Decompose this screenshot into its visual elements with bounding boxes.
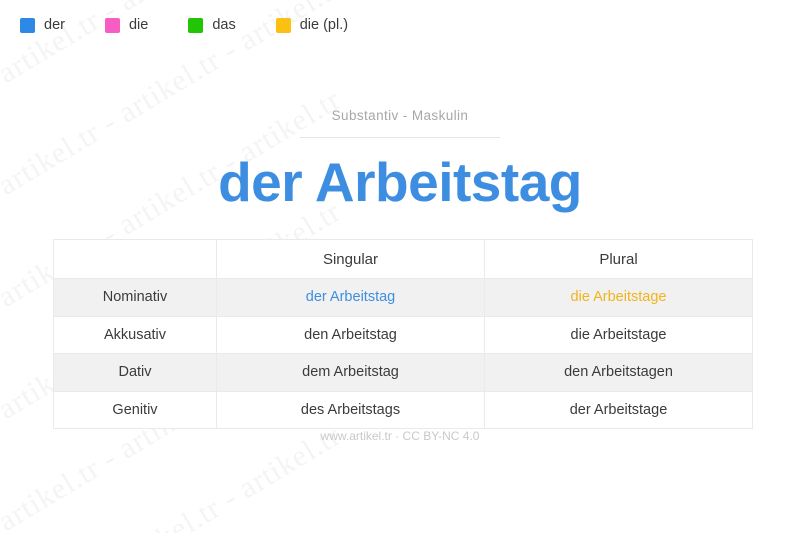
word-category-subtitle: Substantiv - Maskulin [0, 108, 800, 123]
case-label-akkusativ: Akkusativ [54, 316, 217, 354]
cell-nominativ-singular: der Arbeitstag [217, 279, 485, 317]
table-row: Genitiv des Arbeitstags der Arbeitstage [54, 391, 753, 429]
legend-label-die: die [129, 17, 148, 33]
column-header-singular: Singular [217, 240, 485, 279]
header-divider [300, 137, 500, 138]
cell-genitiv-singular: des Arbeitstags [217, 391, 485, 429]
footer-attribution: www.artikel.tr · CC BY-NC 4.0 [0, 429, 800, 443]
case-label-genitiv: Genitiv [54, 391, 217, 429]
conjugation-card: der die das die (pl.) Substantiv - Masku… [0, 0, 800, 533]
legend-label-die-pl: die (pl.) [300, 17, 348, 33]
cell-dativ-singular: dem Arbeitstag [217, 354, 485, 392]
table-row: Akkusativ den Arbeitstag die Arbeitstage [54, 316, 753, 354]
cell-genitiv-plural: der Arbeitstage [485, 391, 753, 429]
legend-swatch-die [105, 18, 120, 33]
table-header-row: Singular Plural [54, 240, 753, 279]
table-row: Nominativ der Arbeitstag die Arbeitstage [54, 279, 753, 317]
case-label-nominativ: Nominativ [54, 279, 217, 317]
legend-swatch-die-pl [276, 18, 291, 33]
legend-item-die: die [105, 17, 148, 33]
legend-swatch-der [20, 18, 35, 33]
legend-swatch-das [188, 18, 203, 33]
article-color-legend: der die das die (pl.) [20, 17, 348, 33]
table-row: Dativ dem Arbeitstag den Arbeitstagen [54, 354, 753, 392]
table-head: Singular Plural [54, 240, 753, 279]
legend-item-das: das [188, 17, 235, 33]
case-label-dativ: Dativ [54, 354, 217, 392]
column-header-plural: Plural [485, 240, 753, 279]
cell-akkusativ-singular: den Arbeitstag [217, 316, 485, 354]
cell-nominativ-plural: die Arbeitstage [485, 279, 753, 317]
legend-item-die-pl: die (pl.) [276, 17, 348, 33]
legend-label-das: das [212, 17, 235, 33]
cell-dativ-plural: den Arbeitstagen [485, 354, 753, 392]
card-header: Substantiv - Maskulin der Arbeitstag [0, 108, 800, 214]
declension-table-wrapper: Singular Plural Nominativ der Arbeitstag… [53, 239, 752, 429]
table-body: Nominativ der Arbeitstag die Arbeitstage… [54, 279, 753, 429]
legend-item-der: der [20, 17, 65, 33]
declension-table: Singular Plural Nominativ der Arbeitstag… [53, 239, 753, 429]
legend-label-der: der [44, 17, 65, 33]
page-title: der Arbeitstag [0, 152, 800, 214]
column-header-case [54, 240, 217, 279]
cell-akkusativ-plural: die Arbeitstage [485, 316, 753, 354]
